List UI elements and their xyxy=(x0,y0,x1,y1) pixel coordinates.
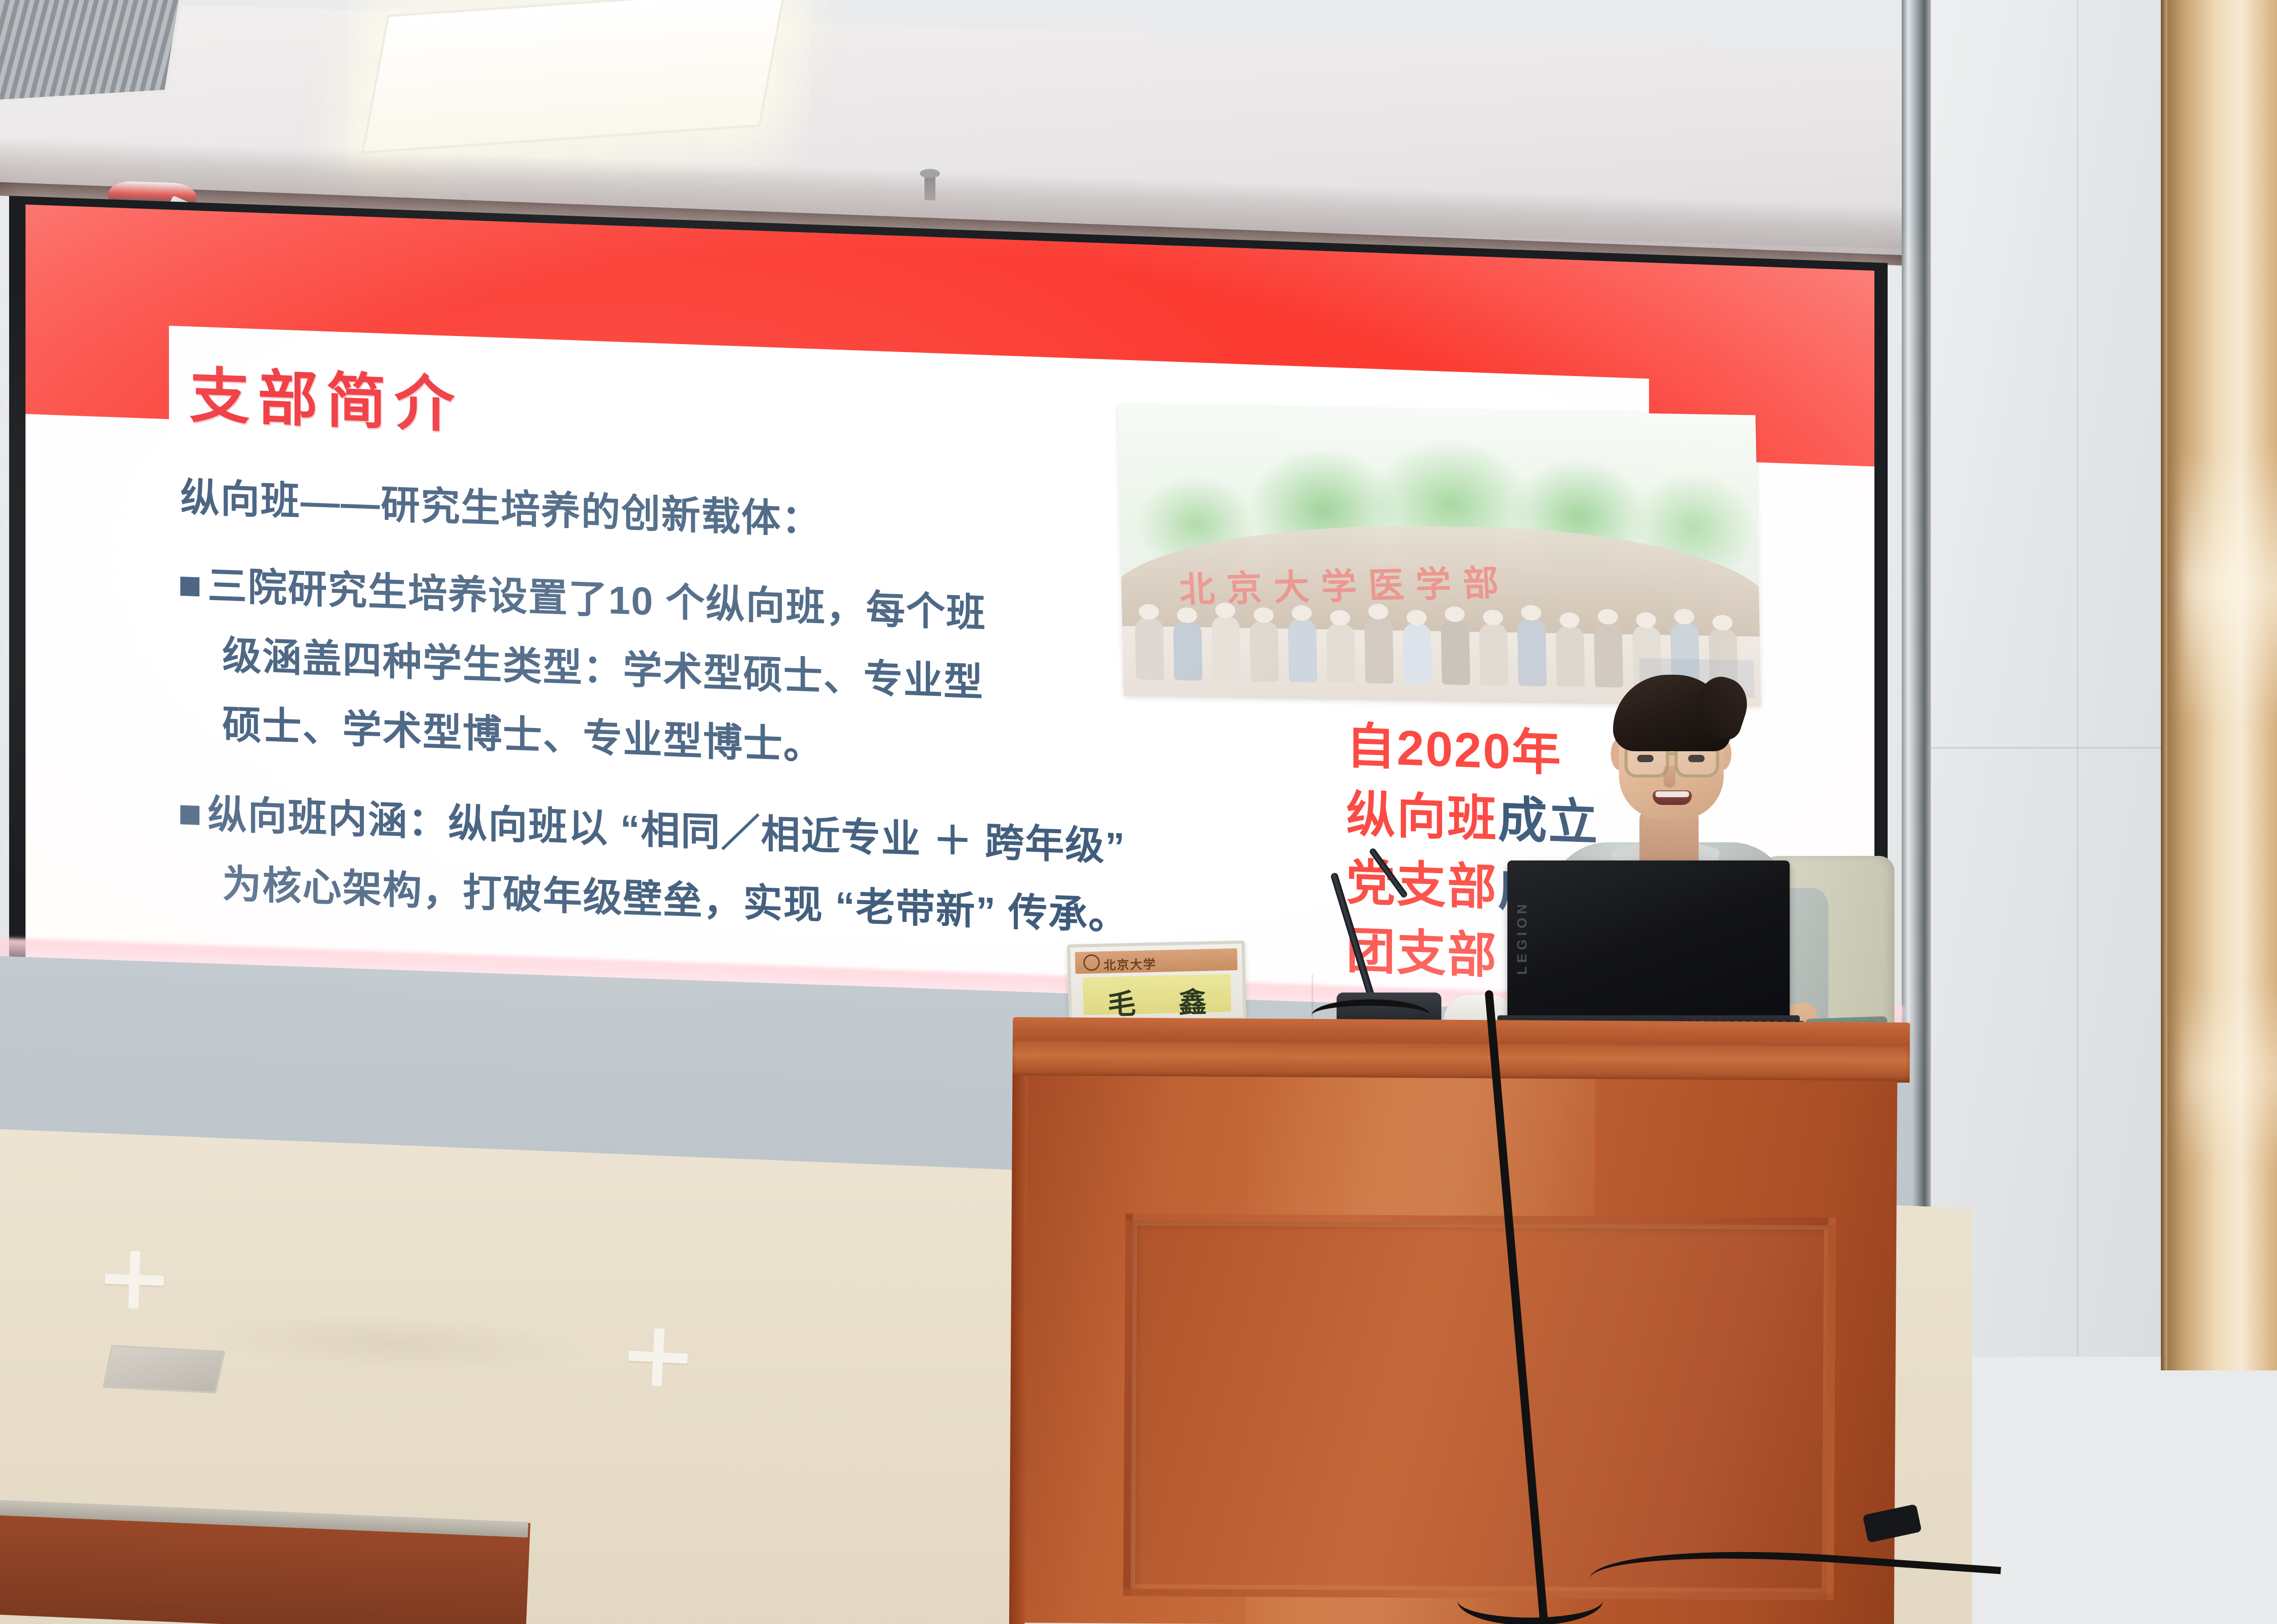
wooden-podium xyxy=(1009,1017,1910,1624)
nameplate-body: 毛 鑫 xyxy=(1083,974,1231,1015)
bullet-square-icon xyxy=(180,576,199,596)
slide-red-band-left xyxy=(26,204,169,419)
floor-tape-mark xyxy=(105,1274,164,1286)
photo-person xyxy=(1250,621,1279,682)
photo-person xyxy=(1364,617,1394,683)
photo-person xyxy=(1441,620,1470,685)
floor-outlet-plate xyxy=(102,1345,225,1394)
nameplate-org: 北京大学 xyxy=(1103,954,1157,973)
podium-inset-panel xyxy=(1123,1214,1836,1601)
slide-body-text: 纵向班——研究生培养的创新载体： 三院研究生培养设置了10 个纵向班，每个班 级… xyxy=(180,463,1273,956)
nameplate-name: 毛 鑫 xyxy=(1083,978,1231,1023)
nameplate-header: 北京大学 xyxy=(1075,948,1237,974)
ceiling-light-panel xyxy=(362,0,786,154)
laptop[interactable]: LEGION xyxy=(1507,860,1790,1040)
photo-person xyxy=(1326,623,1355,683)
speaker-nose xyxy=(1664,766,1675,788)
photo-person xyxy=(1403,623,1432,684)
slide-title: 支部简介 xyxy=(189,347,463,443)
hvac-diffuser-icon xyxy=(0,0,187,104)
photo-person xyxy=(1135,618,1164,680)
photo-person xyxy=(1211,616,1241,681)
gold-column-edge-left xyxy=(2161,0,2167,1370)
university-logo-icon xyxy=(1083,954,1100,971)
speaker-neck xyxy=(1639,811,1699,866)
photo-person xyxy=(1288,619,1317,682)
gold-column-highlight-lower xyxy=(2181,979,2277,1170)
gold-column-highlight xyxy=(2181,446,2277,728)
laptop-brand-label: LEGION xyxy=(1515,901,1530,975)
power-cable-curve xyxy=(1457,1575,1603,1624)
lecture-hall-scene: 支部简介 纵向班——研究生培养的创新载体： 三院研究生培养设置了10 个纵向班，… xyxy=(0,0,2277,1624)
annotation-line-3-red: 党支部 xyxy=(1346,855,1498,915)
speaker-teeth xyxy=(1655,791,1689,797)
eyeglasses-bridge xyxy=(1668,752,1677,755)
desk-nameplate: 北京大学 毛 鑫 xyxy=(1067,941,1246,1024)
laptop-lid: LEGION xyxy=(1507,860,1790,1018)
photo-person xyxy=(1173,621,1202,681)
bullet-square-icon xyxy=(180,805,199,825)
photo-person xyxy=(1479,623,1509,686)
wall-panel-seam-vertical xyxy=(2077,0,2079,1357)
annotation-line-2-red: 纵向班 xyxy=(1346,786,1498,847)
